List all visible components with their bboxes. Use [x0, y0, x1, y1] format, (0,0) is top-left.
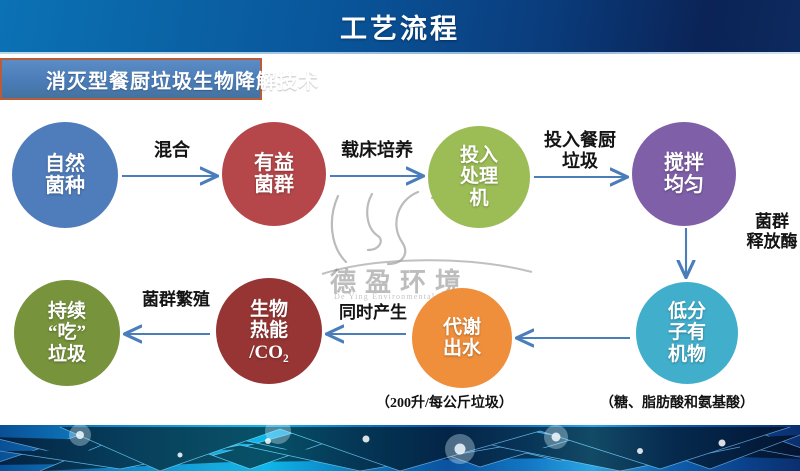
subtitle-label: 消灭型餐厨垃圾生物降解技术 — [46, 65, 319, 94]
edge-label-simultaneous: 同时产生 — [325, 303, 421, 323]
caption-organic-types: （糖、脂肪酸和氨基酸） — [600, 392, 754, 412]
flow-node-label: 搅拌 均匀 — [664, 152, 704, 197]
page-title: 工艺流程 — [0, 0, 800, 52]
flow-node-label: 有益 菌群 — [254, 152, 294, 197]
flow-node-keep-eating[interactable]: 持续 “吃” 垃圾 — [14, 280, 120, 386]
flow-node-label: 持续 “吃” 垃圾 — [48, 301, 86, 365]
flow-node-label: 自然 菌种 — [45, 153, 85, 198]
flow-node-label: 投入 处理 机 — [460, 145, 498, 209]
flow-node-label: 代谢 出水 — [443, 317, 481, 360]
network-graphic — [0, 425, 800, 471]
edge-label-add-food-waste: 投入餐厨 垃圾 — [528, 130, 632, 171]
header-underline — [0, 52, 800, 54]
slide-canvas: 工艺流程 消灭型餐厨垃圾生物降解技术 德盈环境 De Ying Environm… — [0, 0, 800, 471]
edge-label-mix: 混合 — [130, 140, 214, 161]
caption-water-yield: （200升/每公斤垃圾） — [376, 392, 513, 412]
subtitle-banner: 消灭型餐厨垃圾生物降解技术 — [0, 58, 262, 100]
edge-label-release-enzyme: 菌群 释放酶 — [744, 212, 800, 251]
flow-node-label: 低分 子有 机物 — [668, 301, 706, 365]
flow-node-metabolic-water[interactable]: 代谢 出水 — [412, 288, 512, 388]
edge-label-bed-culture: 载床培养 — [327, 140, 427, 161]
flow-node-natural-strain[interactable]: 自然 菌种 — [12, 122, 118, 228]
flow-node-bio-heat-co2[interactable]: 生物 热能 /CO₂ — [216, 278, 322, 384]
flow-node-label: 生物 热能 /CO₂ — [249, 299, 288, 363]
flow-node-feed-machine[interactable]: 投入 处理 机 — [428, 126, 530, 228]
flow-node-stir-evenly[interactable]: 搅拌 均匀 — [632, 122, 736, 226]
footer-network-band — [0, 425, 800, 471]
edge-label-flora-breeding: 菌群繁殖 — [128, 290, 224, 310]
flow-node-low-molecular[interactable]: 低分 子有 机物 — [636, 282, 738, 384]
flow-node-beneficial-flora[interactable]: 有益 菌群 — [222, 122, 326, 226]
